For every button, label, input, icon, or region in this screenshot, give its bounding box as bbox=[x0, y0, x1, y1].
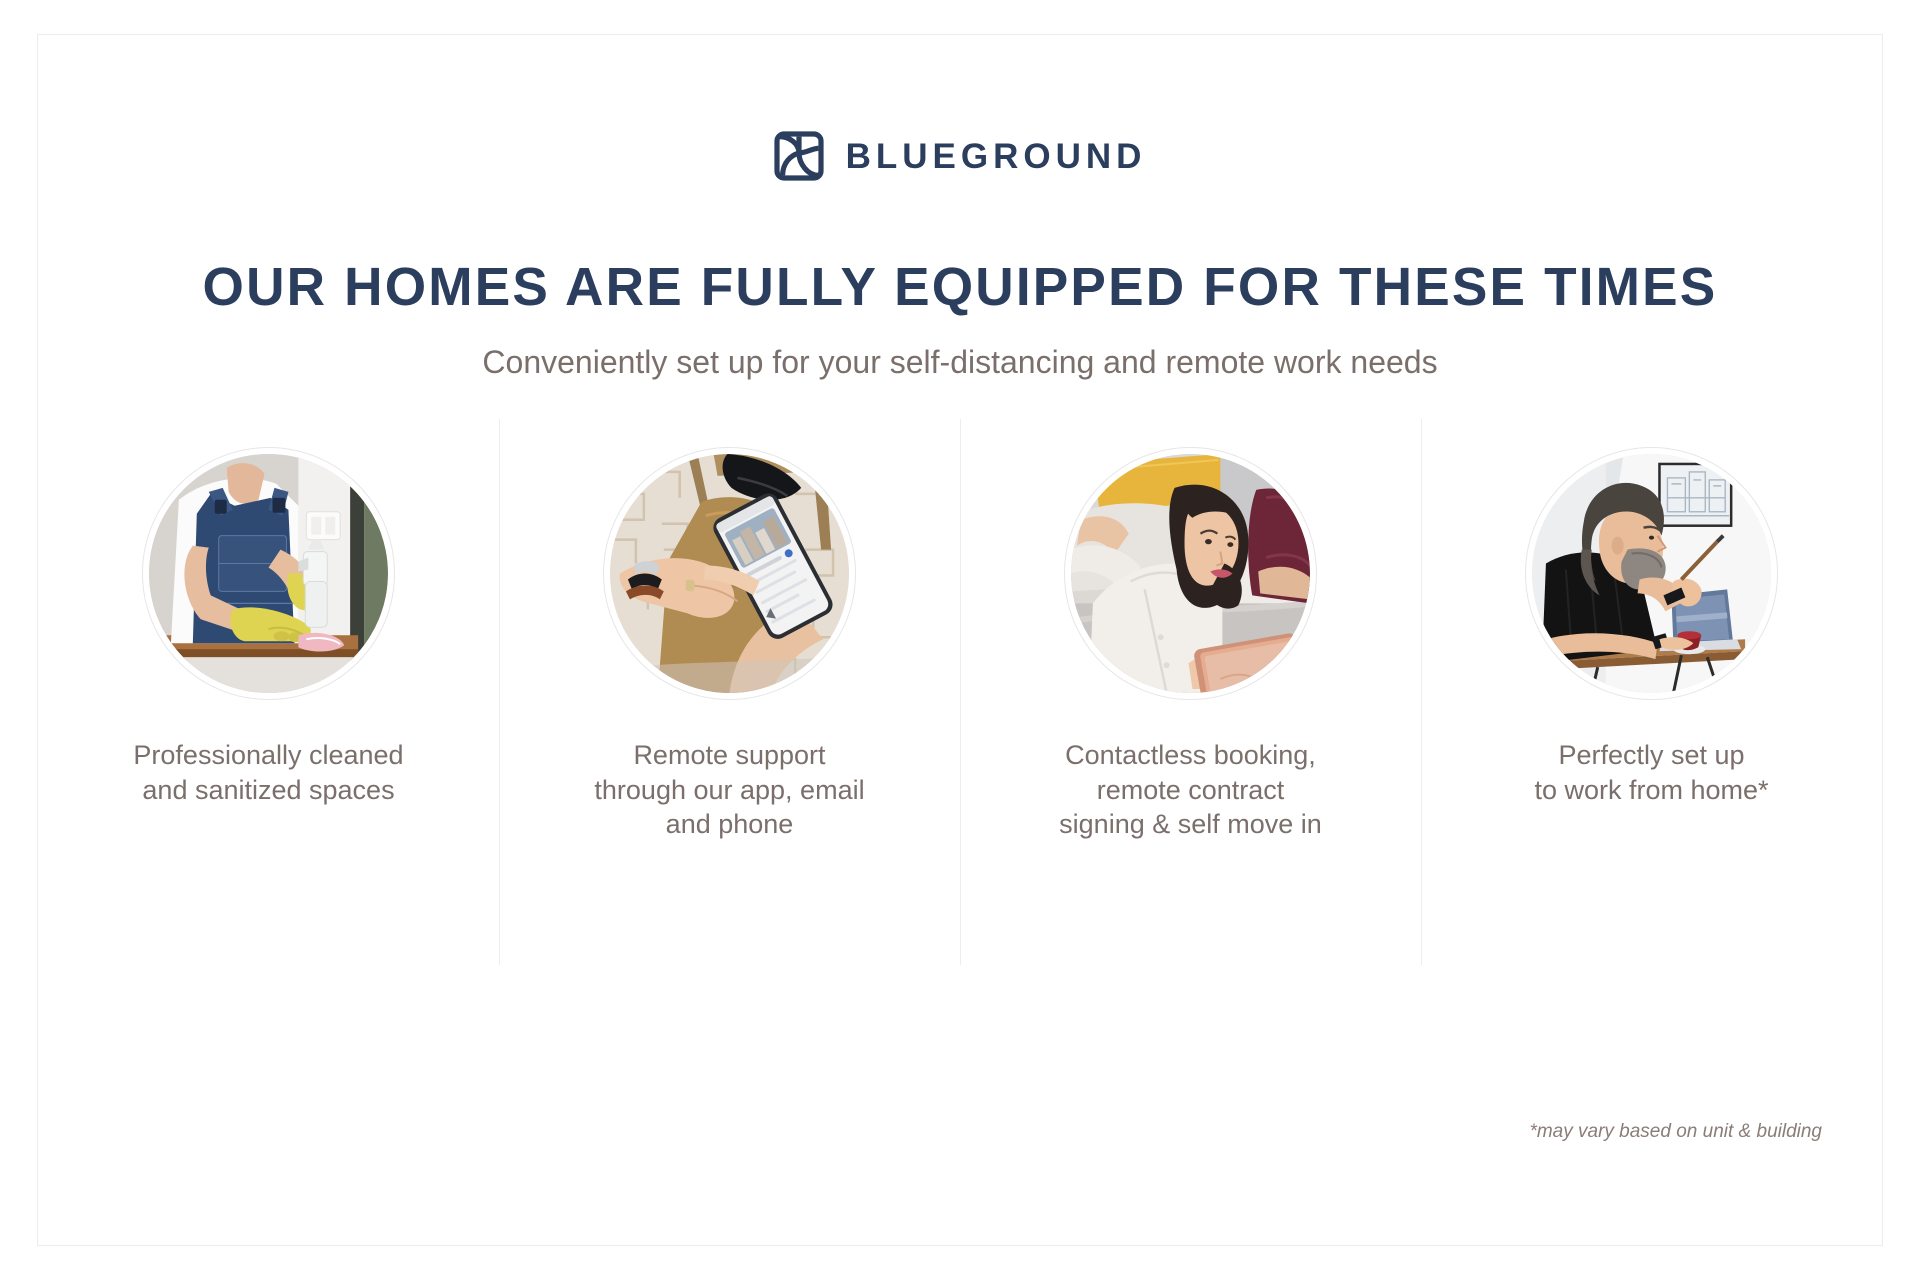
photo-phone-app-support bbox=[610, 454, 849, 693]
photo-ring bbox=[603, 447, 856, 700]
feature-column-contactless-booking: Contactless booking, remote contract sig… bbox=[960, 419, 1421, 965]
blueground-square-mark-icon bbox=[774, 131, 824, 181]
page-subtitle: Conveniently set up for your self-distan… bbox=[38, 342, 1882, 384]
brand-lockup: BLUEGROUND bbox=[38, 131, 1882, 181]
feature-column-work-from-home: Perfectly set up to work from home* bbox=[1421, 419, 1882, 965]
feature-column-remote-support: Remote support through our app, email an… bbox=[499, 419, 960, 965]
photo-work-from-home bbox=[1532, 454, 1771, 693]
page-title: OUR HOMES ARE FULLY EQUIPPED FOR THESE T… bbox=[52, 257, 1868, 317]
brand-wordmark: BLUEGROUND bbox=[846, 139, 1147, 174]
feature-caption: Remote support through our app, email an… bbox=[594, 738, 864, 842]
poster-card: BLUEGROUND OUR HOMES ARE FULLY EQUIPPED … bbox=[37, 34, 1883, 1246]
photo-tablet-booking bbox=[1071, 454, 1310, 693]
feature-caption: Professionally cleaned and sanitized spa… bbox=[133, 738, 403, 807]
feature-caption: Contactless booking, remote contract sig… bbox=[1059, 738, 1322, 842]
photo-ring bbox=[1064, 447, 1317, 700]
photo-ring bbox=[142, 447, 395, 700]
photo-ring bbox=[1525, 447, 1778, 700]
photo-cleaning-service bbox=[149, 454, 388, 693]
feature-caption: Perfectly set up to work from home* bbox=[1534, 738, 1768, 807]
feature-columns: Professionally cleaned and sanitized spa… bbox=[38, 419, 1882, 965]
feature-column-cleaning: Professionally cleaned and sanitized spa… bbox=[38, 419, 499, 965]
footnote-disclaimer: *may vary based on unit & building bbox=[1529, 1121, 1822, 1143]
